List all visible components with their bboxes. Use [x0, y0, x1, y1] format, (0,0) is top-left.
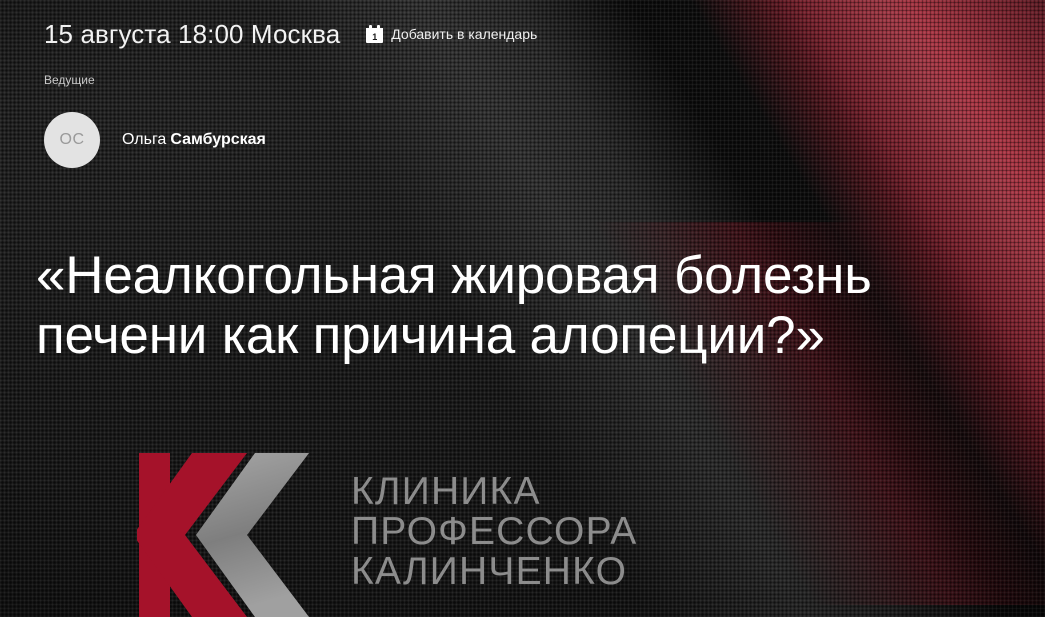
hosts-section-label: Ведущие — [44, 73, 95, 87]
logo-word-line-2: ПРОФЕССОРА — [351, 512, 637, 552]
logo-wordmark: КЛИНИКА ПРОФЕССОРА КАЛИНЧЕНКО — [351, 472, 637, 592]
host-name: ОльгаСамбурская — [122, 130, 266, 150]
page-title-line-2: печени как причина алопеции?» — [36, 306, 996, 366]
add-to-calendar-button[interactable]: 1 Добавить в календарь — [366, 25, 537, 43]
host-last-name: Самбурская — [170, 131, 266, 148]
host-item[interactable]: ОС ОльгаСамбурская — [44, 112, 266, 168]
calendar-icon-day: 1 — [366, 32, 383, 43]
avatar: ОС — [44, 112, 100, 168]
logo-word-line-3: КАЛИНЧЕНКО — [351, 552, 637, 592]
logo-word-line-1: КЛИНИКА — [351, 472, 637, 512]
avatar-initials: ОС — [60, 131, 85, 149]
host-first-name: Ольга — [122, 131, 166, 148]
add-to-calendar-label: Добавить в календарь — [391, 26, 537, 42]
page-title-line-1: «Неалкогольная жировая болезнь — [36, 246, 996, 306]
page-title: «Неалкогольная жировая болезнь печени ка… — [36, 246, 996, 366]
event-datetime: 15 августа 18:00 Москва — [44, 19, 340, 49]
webinar-banner: 15 августа 18:00 Москва 1 Добавить в кал… — [0, 0, 1045, 617]
clinic-logo: КЛИНИКА ПРОФЕССОРА КАЛИНЧЕНКО — [137, 453, 637, 617]
logo-k-mark-icon — [137, 453, 337, 617]
calendar-icon: 1 — [366, 25, 383, 43]
date-row: 15 августа 18:00 Москва 1 Добавить в кал… — [44, 19, 537, 49]
